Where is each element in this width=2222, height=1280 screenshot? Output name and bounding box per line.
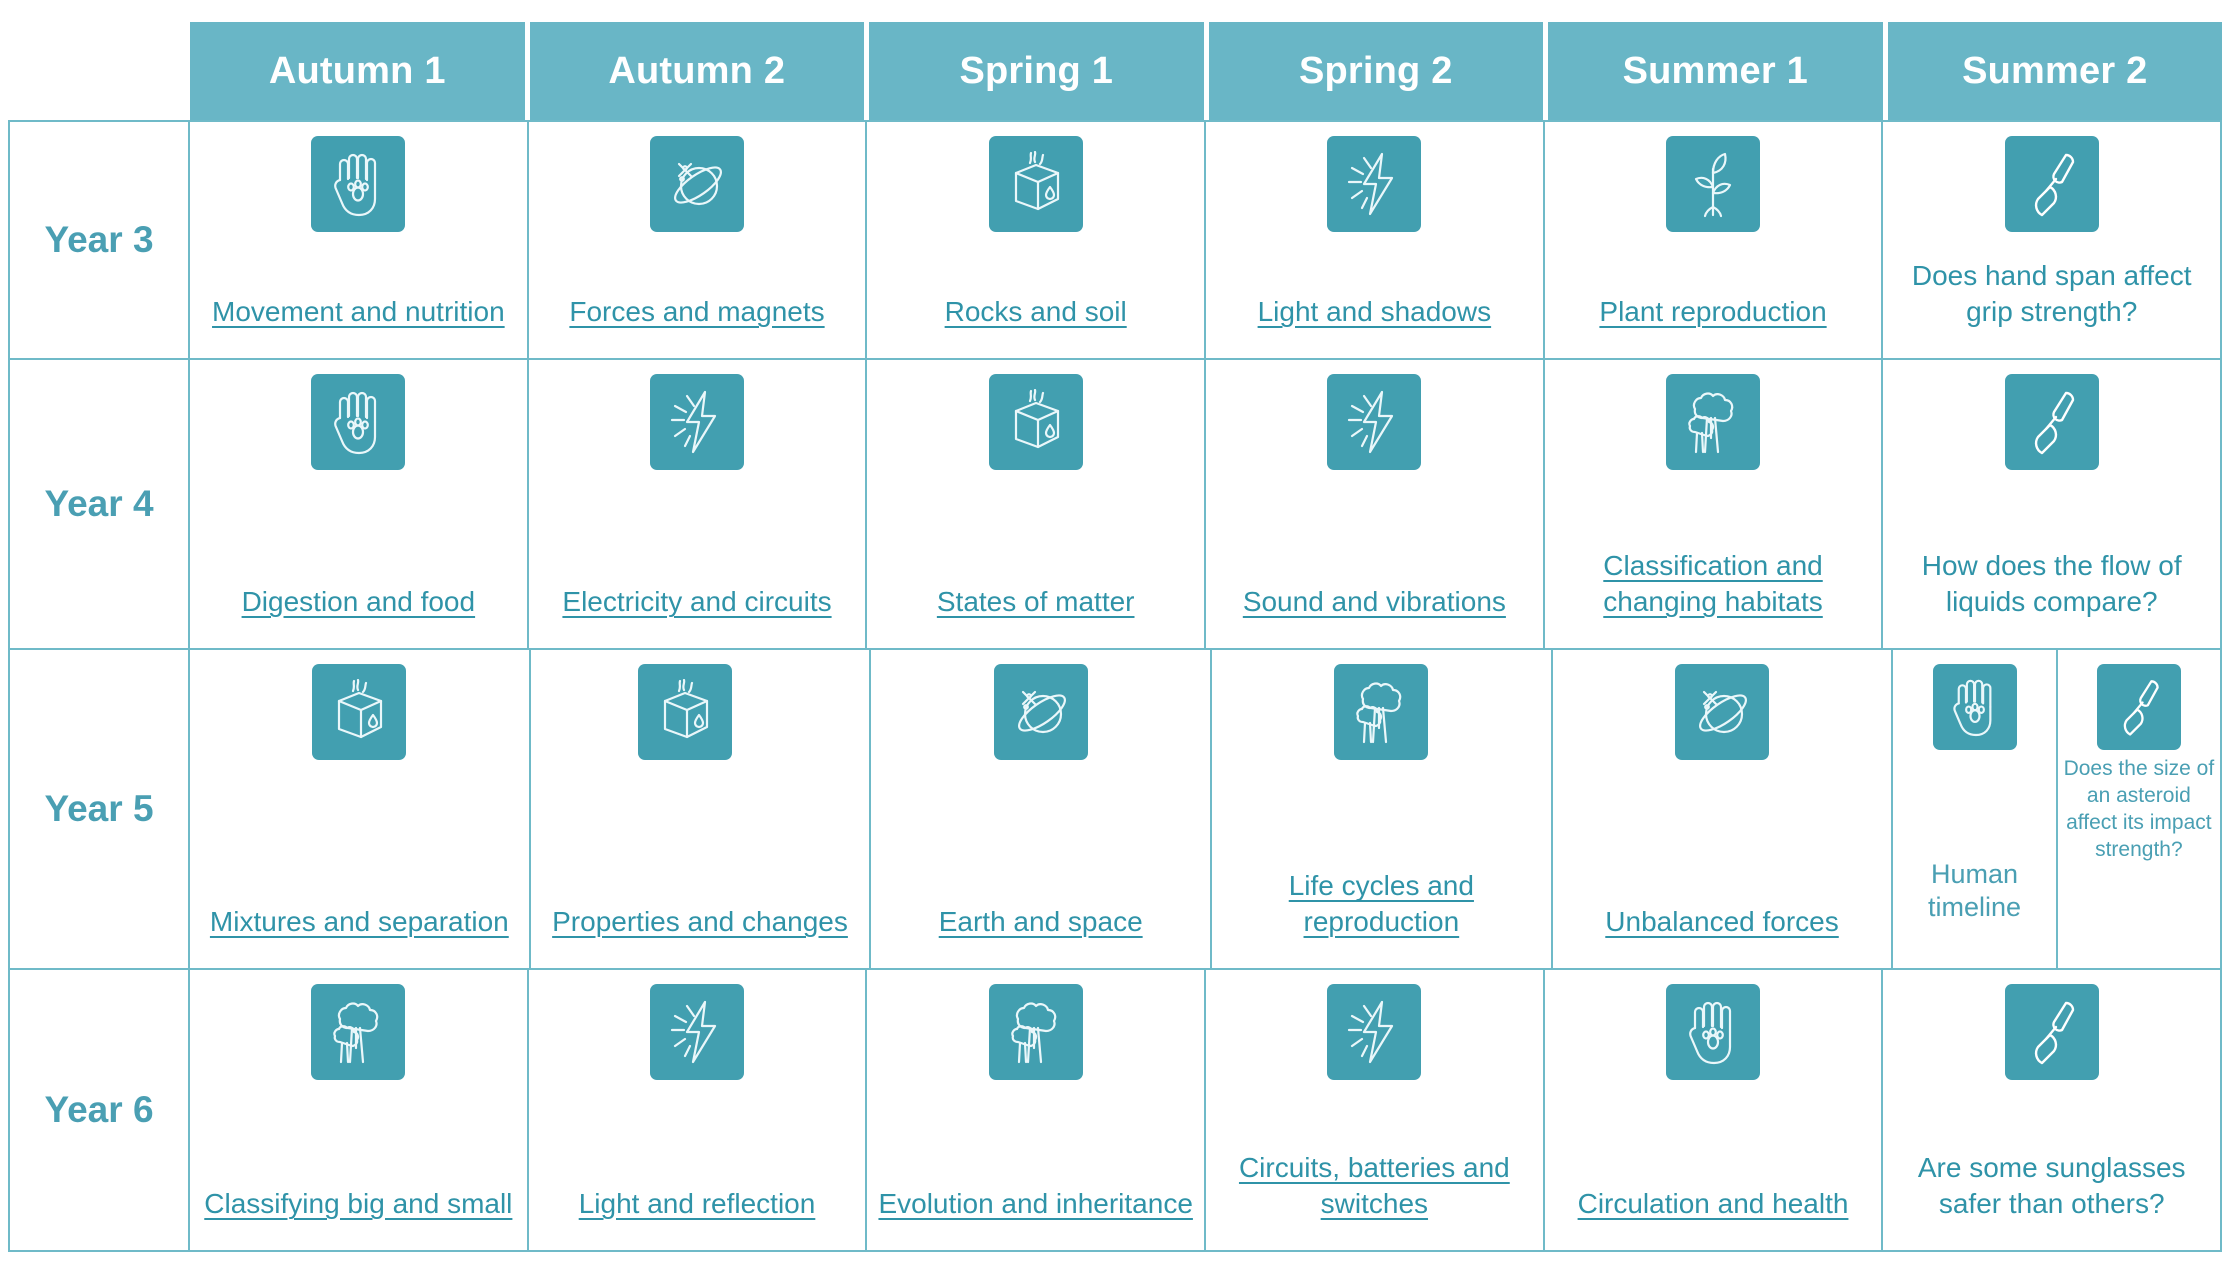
tree-icon: [989, 984, 1083, 1080]
row-header-year-6: Year 6: [8, 970, 190, 1250]
row-header-year-4: Year 4: [8, 360, 190, 648]
cell-year5-spring2[interactable]: Life cycles and reproduction: [1212, 650, 1553, 968]
spade-trowel-icon: [2005, 374, 2099, 470]
cell-label[interactable]: Life cycles and reproduction: [1220, 868, 1543, 940]
cell-year4-summer1[interactable]: Classification and changing habitats: [1545, 360, 1884, 648]
melting-cube-icon: [312, 664, 406, 760]
column-header-label: Summer 1: [1623, 50, 1808, 93]
cell-label[interactable]: Properties and changes: [539, 904, 862, 940]
cell-year6-autumn2[interactable]: Light and reflection: [529, 970, 868, 1250]
cell-year3-autumn1[interactable]: Movement and nutrition: [190, 122, 529, 358]
cell-label[interactable]: Classification and changing habitats: [1553, 548, 1874, 620]
cell-year5-autumn1[interactable]: Mixtures and separation: [190, 650, 531, 968]
cell-year5-summer1[interactable]: Unbalanced forces: [1553, 650, 1894, 968]
lightning-bolt-icon: [1327, 374, 1421, 470]
tree-icon: [1334, 664, 1428, 760]
table-header-row: Autumn 1 Autumn 2 Spring 1 Spring 2 Summ…: [190, 22, 2222, 120]
planet-orbit-icon: [994, 664, 1088, 760]
melting-cube-icon: [638, 664, 732, 760]
cell-label: Does hand span affect grip strength?: [1891, 258, 2212, 330]
cell-label[interactable]: Sound and vibrations: [1214, 584, 1535, 620]
table-row: Year 3 Movement and nutriti: [8, 122, 2222, 360]
cell-year6-summer2: Are some sunglasses safer than others?: [1883, 970, 2222, 1250]
cell-label[interactable]: Circuits, batteries and switches: [1214, 1150, 1535, 1222]
cell-year3-summer2: Does hand span affect grip strength?: [1883, 122, 2222, 358]
column-header-summer-2: Summer 2: [1888, 22, 2222, 120]
subcell-asteroid-question[interactable]: Does the size of an asteroid affect its …: [2056, 650, 2220, 968]
row-header-label: Year 4: [44, 483, 153, 525]
cell-label[interactable]: Electricity and circuits: [537, 584, 858, 620]
row-header-label: Year 3: [44, 219, 153, 261]
subcell-label: Does the size of an asteroid affect its …: [2062, 756, 2216, 864]
table-row: Year 4 Digestion and food: [8, 360, 2222, 650]
cell-year4-spring1[interactable]: States of matter: [867, 360, 1206, 648]
cell-label[interactable]: Mixtures and separation: [198, 904, 521, 940]
column-header-label: Spring 1: [959, 50, 1113, 93]
lightning-bolt-icon: [1327, 136, 1421, 232]
cell-label[interactable]: Light and reflection: [537, 1186, 858, 1222]
lightning-bolt-icon: [650, 374, 744, 470]
column-header-autumn-1: Autumn 1: [190, 22, 525, 120]
cell-label[interactable]: Light and shadows: [1214, 294, 1535, 330]
subcell-label: Human timeline: [1897, 858, 2051, 924]
cell-year6-spring1[interactable]: Evolution and inheritance: [867, 970, 1206, 1250]
cell-label[interactable]: Rocks and soil: [875, 294, 1196, 330]
row-header-year-5: Year 5: [8, 650, 190, 968]
column-header-label: Autumn 1: [269, 50, 446, 93]
cell-year6-autumn1[interactable]: Classifying big and small: [190, 970, 529, 1250]
cell-label[interactable]: Evolution and inheritance: [875, 1186, 1196, 1222]
cell-label[interactable]: Circulation and health: [1553, 1186, 1874, 1222]
spade-trowel-icon: [2005, 136, 2099, 232]
subcell-human-timeline[interactable]: Human timeline: [1893, 650, 2055, 968]
spade-trowel-icon: [2097, 664, 2181, 750]
cell-label[interactable]: Unbalanced forces: [1561, 904, 1884, 940]
cell-year4-autumn1[interactable]: Digestion and food: [190, 360, 529, 648]
cell-label: How does the flow of liquids compare?: [1891, 548, 2212, 620]
cell-year3-spring2[interactable]: Light and shadows: [1206, 122, 1545, 358]
tree-icon: [1666, 374, 1760, 470]
cell-year6-summer1[interactable]: Circulation and health: [1545, 970, 1884, 1250]
cell-year5-autumn2[interactable]: Properties and changes: [531, 650, 872, 968]
seedling-icon: [1666, 136, 1760, 232]
cell-label[interactable]: Forces and magnets: [537, 294, 858, 330]
row-header-label: Year 6: [44, 1089, 153, 1131]
cell-label[interactable]: Classifying big and small: [198, 1186, 519, 1222]
curriculum-overview-table: Autumn 1 Autumn 2 Spring 1 Spring 2 Summ…: [0, 0, 2222, 1280]
cell-year5-spring1[interactable]: Earth and space: [871, 650, 1212, 968]
column-header-label: Spring 2: [1299, 50, 1453, 93]
column-header-spring-1: Spring 1: [869, 22, 1204, 120]
cell-year4-summer2: How does the flow of liquids compare?: [1883, 360, 2222, 648]
cell-label: Are some sunglasses safer than others?: [1891, 1150, 2212, 1222]
lightning-bolt-icon: [650, 984, 744, 1080]
cell-label[interactable]: Plant reproduction: [1553, 294, 1874, 330]
cell-label[interactable]: Digestion and food: [198, 584, 519, 620]
melting-cube-icon: [989, 136, 1083, 232]
spade-trowel-icon: [2005, 984, 2099, 1080]
hand-paw-icon: [311, 136, 405, 232]
cell-label[interactable]: Movement and nutrition: [198, 294, 519, 330]
column-header-spring-2: Spring 2: [1209, 22, 1544, 120]
planet-orbit-icon: [650, 136, 744, 232]
hand-paw-icon: [1666, 984, 1760, 1080]
table-body: Year 3 Movement and nutriti: [8, 120, 2222, 1252]
melting-cube-icon: [989, 374, 1083, 470]
row-header-year-3: Year 3: [8, 122, 190, 358]
cell-year6-spring2[interactable]: Circuits, batteries and switches: [1206, 970, 1545, 1250]
cell-year3-summer1[interactable]: Plant reproduction: [1545, 122, 1884, 358]
cell-year3-autumn2[interactable]: Forces and magnets: [529, 122, 868, 358]
cell-label[interactable]: Earth and space: [879, 904, 1202, 940]
row-header-label: Year 5: [44, 788, 153, 830]
table-row: Year 5 Mixtures and separation: [8, 650, 2222, 970]
column-header-label: Summer 2: [1962, 50, 2147, 93]
cell-year5-summer2: Human timeline Does the size of an aster…: [1893, 650, 2222, 968]
tree-icon: [311, 984, 405, 1080]
hand-paw-icon: [1933, 664, 2017, 750]
lightning-bolt-icon: [1327, 984, 1421, 1080]
cell-label[interactable]: States of matter: [875, 584, 1196, 620]
hand-paw-icon: [311, 374, 405, 470]
cell-year4-autumn2[interactable]: Electricity and circuits: [529, 360, 868, 648]
cell-year4-spring2[interactable]: Sound and vibrations: [1206, 360, 1545, 648]
column-header-summer-1: Summer 1: [1548, 22, 1883, 120]
column-header-label: Autumn 2: [608, 50, 785, 93]
table-row: Year 6 Classifying big and small: [8, 970, 2222, 1252]
column-header-autumn-2: Autumn 2: [530, 22, 865, 120]
cell-year3-spring1[interactable]: Rocks and soil: [867, 122, 1206, 358]
planet-orbit-icon: [1675, 664, 1769, 760]
